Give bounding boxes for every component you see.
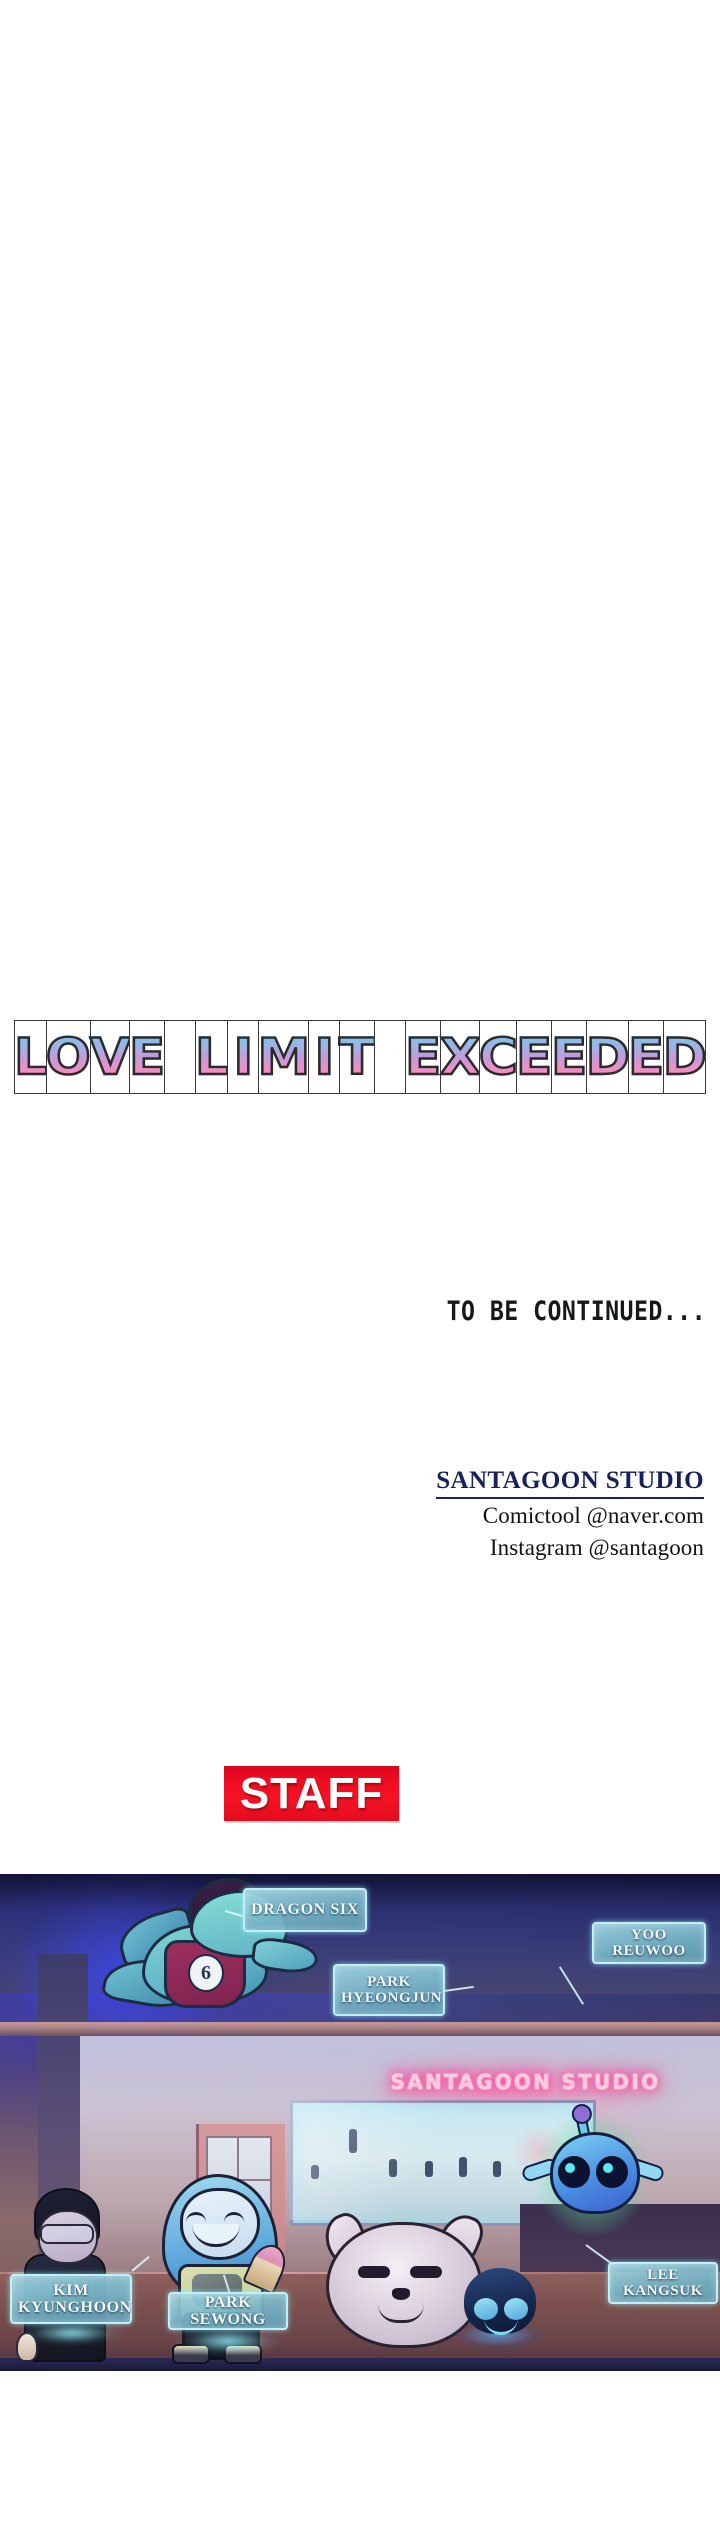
name-tag-park-hyeongjun: PARK HYEONGJUN [333,1964,445,2016]
slime-eye-left [558,2156,590,2188]
blob-eye-left [474,2298,498,2320]
neon-studio-sign: SANTAGOON STUDIO [391,2070,661,2094]
title-letter: L [195,1032,229,1082]
title-letter: E [551,1032,587,1082]
staff-illustration-panel: 6 [0,1874,720,2371]
studio-instagram: Instagram @santagoon [284,1533,704,1563]
name-tag-park-sewong: PARK SEWONG [168,2292,288,2330]
sheep-nose [392,2288,410,2300]
shelf-ledge [0,2022,720,2036]
episode-title-logo: L O V E L I M I T E X C E E D E D [14,1020,706,1094]
title-letter-cell-space [164,1020,196,1094]
title-letter-cell: X [440,1020,481,1094]
name-tag-label: YOO REUWOO [600,1927,698,1959]
name-tag-label: DRAGON SIX [251,1901,359,1918]
title-letter: E [129,1032,165,1082]
staff-label: STAFF [240,1772,384,1816]
title-letter: T [339,1032,375,1082]
to-be-continued-text: TO BE CONTINUED... [328,1296,706,1327]
panel-bottom-rail [0,2358,720,2371]
title-letter-cell: E [405,1020,441,1094]
blob-eye-right [504,2298,528,2320]
title-letter: M [257,1032,310,1082]
title-letter: O [46,1032,91,1082]
title-letter-cell: C [479,1020,518,1094]
title-letter: D [585,1032,629,1082]
name-tag-dragon-six: DRAGON SIX [243,1888,367,1932]
title-letter-cell: I [227,1020,259,1094]
character-blob [450,2268,546,2350]
title-letter-cell: E [628,1020,664,1094]
title-letter: X [439,1032,480,1082]
title-letter-cell: D [663,1020,707,1094]
name-tag-underglow [172,2326,284,2356]
sheep-eye-right [410,2266,442,2278]
title-letter: E [628,1032,664,1082]
title-letter-cell: E [516,1020,552,1094]
name-tag-yoo-reuwoo: YOO REUWOO [592,1922,706,1964]
title-letter-cell: E [551,1020,587,1094]
studio-credits: SANTAGOON STUDIO Comictool @naver.com In… [284,1466,704,1563]
name-tag-lee-kangsuk: LEE KANGSUK [608,2262,718,2304]
name-tag-label: PARK HYEONGJUN [341,1974,437,2006]
title-letter-cell-space [374,1020,406,1094]
title-letter: I [233,1032,253,1082]
title-letter: D [662,1032,706,1082]
name-tag-label: LEE KANGSUK [616,2267,710,2299]
staff-banner: STAFF [224,1766,399,1821]
title-letter: L [14,1032,48,1082]
name-tag-label: PARK SEWONG [176,2294,280,2329]
slime-eye-right [596,2156,628,2188]
dragon-jersey-number: 6 [188,1954,224,1992]
title-letter-cell: M [258,1020,310,1094]
title-letter-cell: V [90,1020,131,1094]
title-letter-cell: L [14,1020,48,1094]
title-letter-cell: O [46,1020,91,1094]
title-letter: E [405,1032,441,1082]
title-letter-cell: I [308,1020,340,1094]
title-letter-cell: D [586,1020,630,1094]
name-tag-kim-kyunghoon: KIM KYUNGHOON [10,2274,132,2324]
character-slime-robot [524,2100,660,2250]
title-letter-cell: L [195,1020,229,1094]
title-letter-cell: E [129,1020,165,1094]
glasses-icon [40,2224,94,2244]
studio-email: Comictool @naver.com [284,1501,704,1531]
title-letter-cell: T [339,1020,375,1094]
name-tag-label: KIM KYUNGHOON [18,2282,124,2317]
sheep-eye-left [358,2266,390,2278]
title-letter: V [89,1032,130,1082]
title-letter: C [479,1032,518,1082]
title-letter: E [516,1032,552,1082]
title-letter: I [315,1032,335,1082]
studio-name: SANTAGOON STUDIO [436,1466,704,1499]
